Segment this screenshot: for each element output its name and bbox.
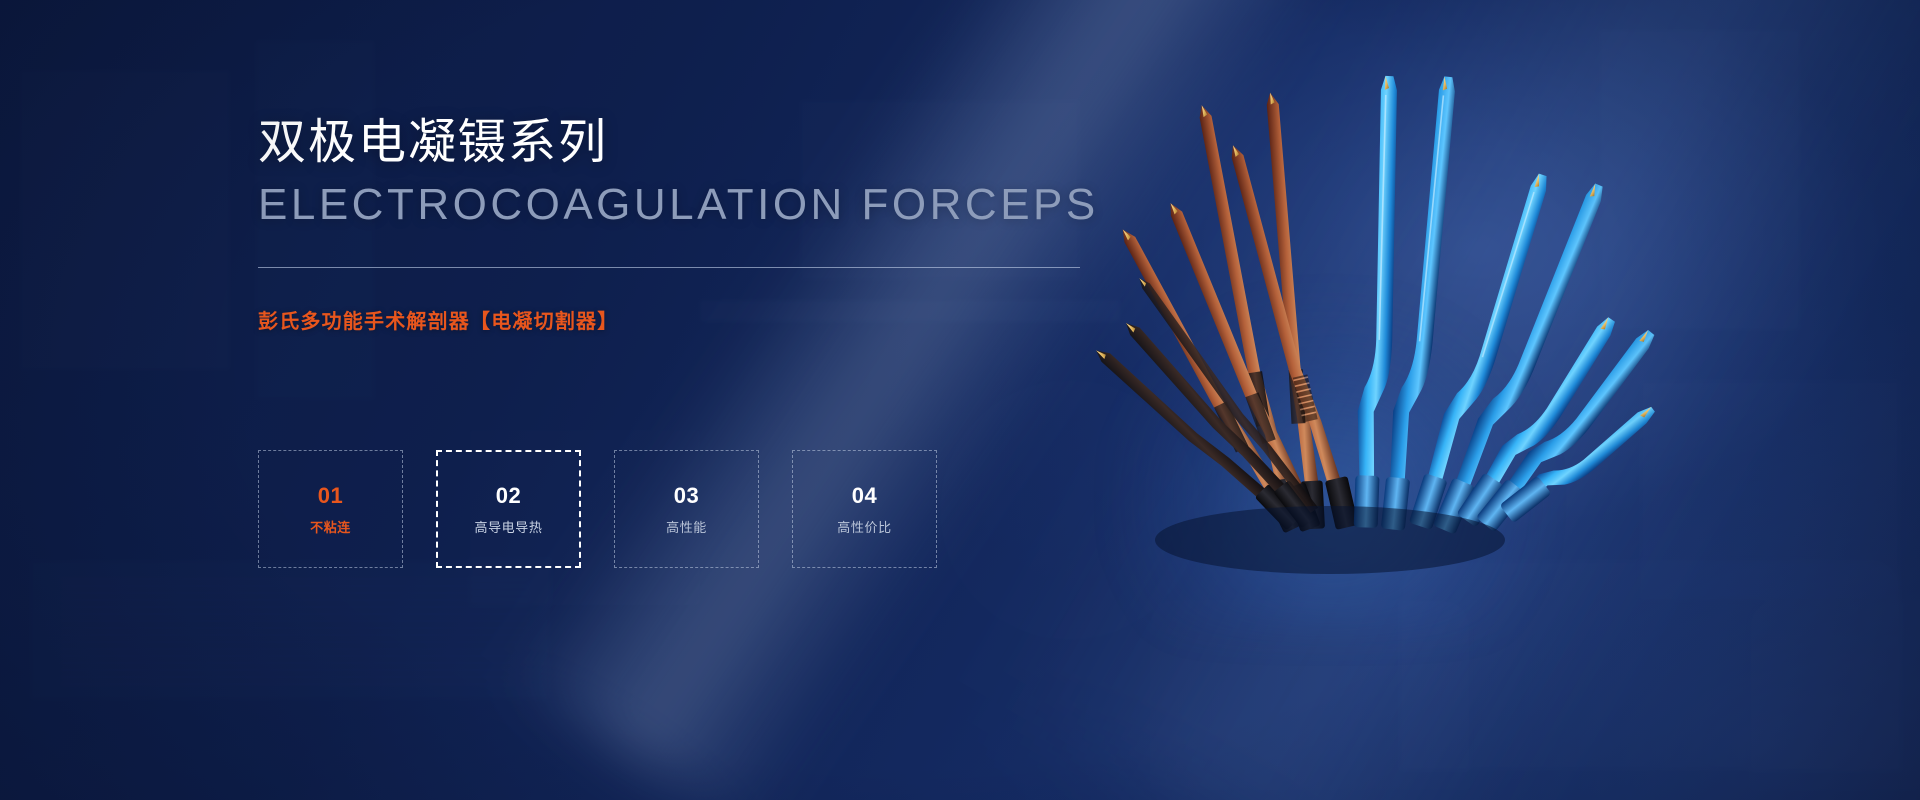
feature-label: 高性价比: [837, 521, 891, 534]
feature-number: 04: [852, 485, 877, 507]
banner-copy: 双极电凝镊系列 ELECTROCOAGULATION FORCEPS 彭氏多功能…: [258, 118, 1158, 334]
product-image-forceps: [1030, 40, 1590, 600]
feature-label: 不粘连: [310, 521, 351, 534]
feature-item-03[interactable]: 03 高性能: [614, 450, 759, 568]
feature-label: 高导电导热: [474, 521, 542, 534]
feature-number: 02: [496, 485, 521, 507]
feature-label: 高性能: [666, 521, 707, 534]
forceps-copper-group: [1093, 91, 1358, 542]
page-title: 双极电凝镊系列: [258, 118, 1158, 168]
title-divider: [258, 267, 1080, 268]
page-subtitle-en: ELECTROCOAGULATION FORCEPS: [258, 182, 1158, 228]
product-banner: 双极电凝镊系列 ELECTROCOAGULATION FORCEPS 彭氏多功能…: [0, 0, 1920, 800]
feature-item-04[interactable]: 04 高性价比: [792, 450, 937, 568]
feature-number: 01: [318, 485, 343, 507]
feature-item-02[interactable]: 02 高导电导热: [436, 450, 581, 568]
feature-list: 01 不粘连 02 高导电导热 03 高性能 04 高性价比: [258, 450, 937, 568]
feature-number: 03: [674, 485, 699, 507]
product-tagline: 彭氏多功能手术解剖器【电凝切割器】: [258, 305, 1158, 334]
feature-item-01[interactable]: 01 不粘连: [258, 450, 403, 568]
